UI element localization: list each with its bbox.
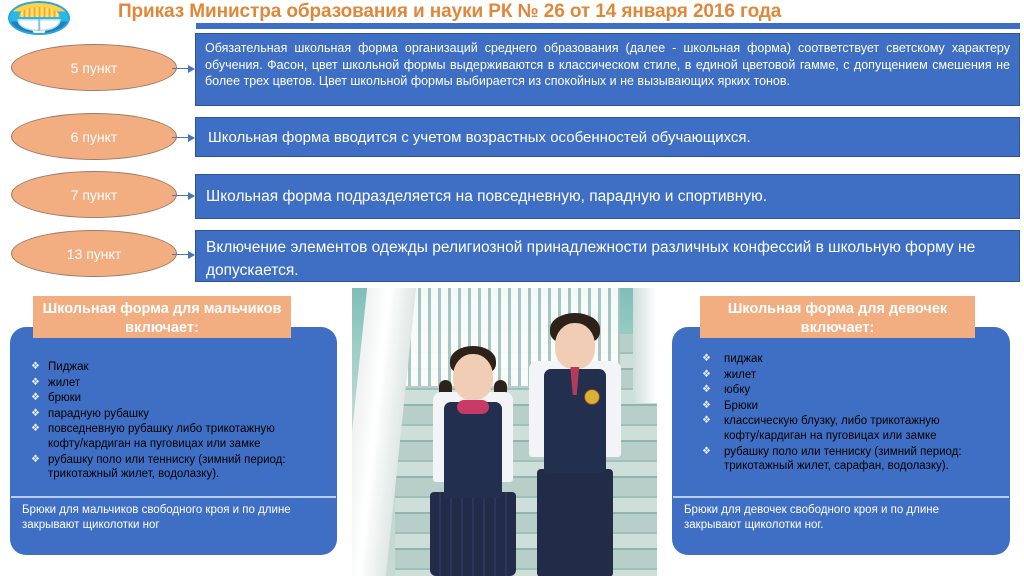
girl-navy-vest — [444, 402, 502, 498]
book-spine-icon — [38, 19, 40, 31]
boys-panel-heading: Школьная форма для мальчиков включает: — [33, 296, 291, 338]
header-underline-rule — [196, 23, 1020, 29]
list-item: ❖ Пиджак — [22, 360, 322, 375]
clause-text-5: Обязательная школьная форма организаций … — [195, 33, 1020, 106]
arrow-connector-6 — [172, 137, 194, 138]
list-item: ❖ Брюки — [680, 399, 1000, 414]
list-item: ❖ парадную рубашку — [22, 407, 322, 422]
sun-rays-icon — [19, 7, 60, 17]
girls-uniform-list: ❖ пиджак ❖ жилет ❖ юбку ❖ Брюки ❖ класси… — [680, 352, 1000, 475]
diamond-bullet-icon: ❖ — [31, 391, 40, 406]
girl-face — [453, 354, 493, 400]
diamond-bullet-icon: ❖ — [702, 399, 711, 414]
boy-school-badge — [584, 389, 600, 405]
list-item-line1: рубашку поло или тенниску (зимний период… — [724, 446, 962, 458]
list-item-line1: классическую блузку, либо трикотажную — [724, 415, 940, 427]
list-item-line1: Брюки — [724, 400, 758, 412]
list-item-line2: кофту/кардиган на пуговицах или замке — [724, 429, 1000, 444]
diamond-bullet-icon: ❖ — [31, 453, 40, 468]
list-item-line1: брюки — [48, 392, 81, 404]
list-item: ❖ жилет — [680, 368, 1000, 383]
diamond-bullet-icon: ❖ — [702, 352, 711, 367]
diamond-bullet-icon: ❖ — [31, 407, 40, 422]
list-item-line1: парадную рубашку — [48, 408, 149, 420]
clause-text-7: Школьная форма подразделяется на повседн… — [195, 174, 1020, 219]
list-item: ❖ классическую блузку, либо трикотажную … — [680, 414, 1000, 443]
list-item: ❖ пиджак — [680, 352, 1000, 367]
clause-pill-6[interactable]: 6 пункт — [11, 113, 177, 160]
list-item-line2: кофту/кардиган на пуговицах или замке — [48, 437, 322, 452]
diamond-bullet-icon: ❖ — [702, 383, 711, 398]
clause-text-6: Школьная форма вводится с учетом возраст… — [195, 117, 1020, 157]
diamond-bullet-icon: ❖ — [31, 422, 40, 437]
list-item-line1: Пиджак — [48, 361, 89, 373]
boy-navy-trousers — [537, 469, 613, 576]
arrow-connector-13 — [172, 254, 194, 255]
list-item-line1: жилет — [724, 369, 756, 381]
list-item: ❖ рубашку поло или тенниску (зимний пери… — [22, 453, 322, 482]
clause-pill-7[interactable]: 7 пункт — [11, 171, 177, 218]
girls-panel-heading: Школьная форма для девочек включает: — [700, 296, 975, 338]
list-item: ❖ юбку — [680, 383, 1000, 398]
clause-text-13: Включение элементов одежды религиозной п… — [195, 230, 1020, 282]
clause-pill-13[interactable]: 13 пункт — [11, 230, 177, 277]
girl-bow-tie — [457, 400, 489, 414]
list-item-line1: жилет — [48, 377, 80, 389]
slide-root: Приказ Министра образования и науки РК №… — [0, 0, 1024, 576]
list-item: ❖ брюки — [22, 391, 322, 406]
diamond-bullet-icon: ❖ — [31, 376, 40, 391]
boy-face — [555, 323, 595, 369]
list-item: ❖ повседневную рубашку либо трикотажную … — [22, 422, 322, 451]
list-item: ❖ жилет — [22, 376, 322, 391]
list-item-line1: рубашку поло или тенниску (зимний период… — [48, 454, 286, 466]
clause-pill-5[interactable]: 5 пункт — [11, 44, 177, 91]
ministry-emblem-logo — [8, 1, 70, 35]
list-item-line2: трикотажный жилет, водолазку). — [48, 467, 322, 482]
boys-panel-divider — [11, 496, 336, 498]
list-item-line2: трикотажный жилет, сарафан, водолазку). — [724, 459, 1000, 474]
arrow-connector-5 — [172, 68, 194, 69]
girls-panel-divider — [673, 496, 1009, 498]
boys-uniform-list: ❖ Пиджак ❖ жилет ❖ брюки ❖ парадную руба… — [22, 360, 322, 483]
diamond-bullet-icon: ❖ — [702, 368, 711, 383]
diamond-bullet-icon: ❖ — [702, 414, 711, 429]
photo-girl-figure — [425, 340, 521, 576]
list-item: ❖ рубашку поло или тенниску (зимний пери… — [680, 445, 1000, 474]
girl-pleated-skirt — [430, 492, 516, 576]
list-item-line1: юбку — [724, 384, 750, 396]
diamond-bullet-icon: ❖ — [702, 445, 711, 460]
boys-trousers-note: Брюки для мальчиков свободного кроя и по… — [22, 503, 322, 533]
girls-trousers-note: Брюки для девочек свободного кроя и по д… — [684, 503, 994, 533]
arrow-connector-7 — [172, 195, 194, 196]
diamond-bullet-icon: ❖ — [31, 360, 40, 375]
school-uniform-children-photo — [352, 288, 657, 576]
list-item-line1: повседневную рубашку либо трикотажную — [48, 423, 275, 435]
photo-boy-figure — [520, 311, 630, 576]
page-title: Приказ Министра образования и науки РК №… — [118, 0, 968, 24]
list-item-line1: пиджак — [724, 353, 762, 365]
photo-right-rail — [633, 288, 657, 403]
